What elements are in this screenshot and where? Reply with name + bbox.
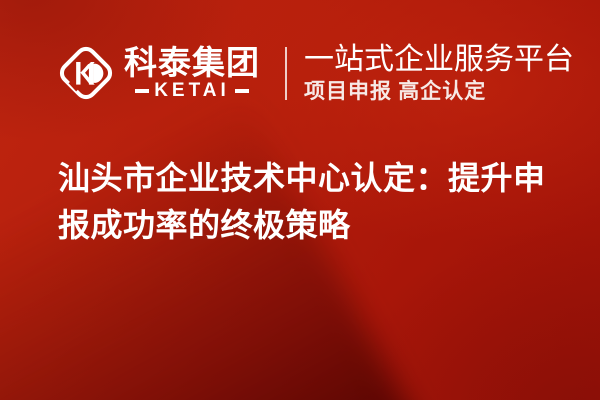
tagline-primary: 一站式企业服务平台 [304,43,574,77]
tagline-block: 一站式企业服务平台 项目申报 高企认定 [304,43,574,103]
brand-name-latin: KETAI [154,81,230,100]
brand-name-cn: 科泰集团 [124,46,260,80]
tagline-secondary: 项目申报 高企认定 [304,79,574,103]
article-title: 汕头市企业技术中心认定：提升申报成功率的终极策略 [58,155,558,249]
brand-lockup[interactable]: 科泰集团 KETAI [57,44,260,102]
promo-banner: 科泰集团 KETAI 一站式企业服务平台 项目申报 高企认定 汕头市企业技术中心… [0,0,600,400]
brand-wordmark: 科泰集团 KETAI [124,46,260,100]
header-divider [285,47,287,100]
brand-rule-right [235,89,249,93]
banner-header: 科泰集团 KETAI 一站式企业服务平台 项目申报 高企认定 [0,34,600,112]
brand-latin-row: KETAI [124,81,260,100]
background-glow-bottom-right [340,230,600,400]
ketai-logo-icon [57,44,115,102]
brand-rule-left [135,89,149,93]
